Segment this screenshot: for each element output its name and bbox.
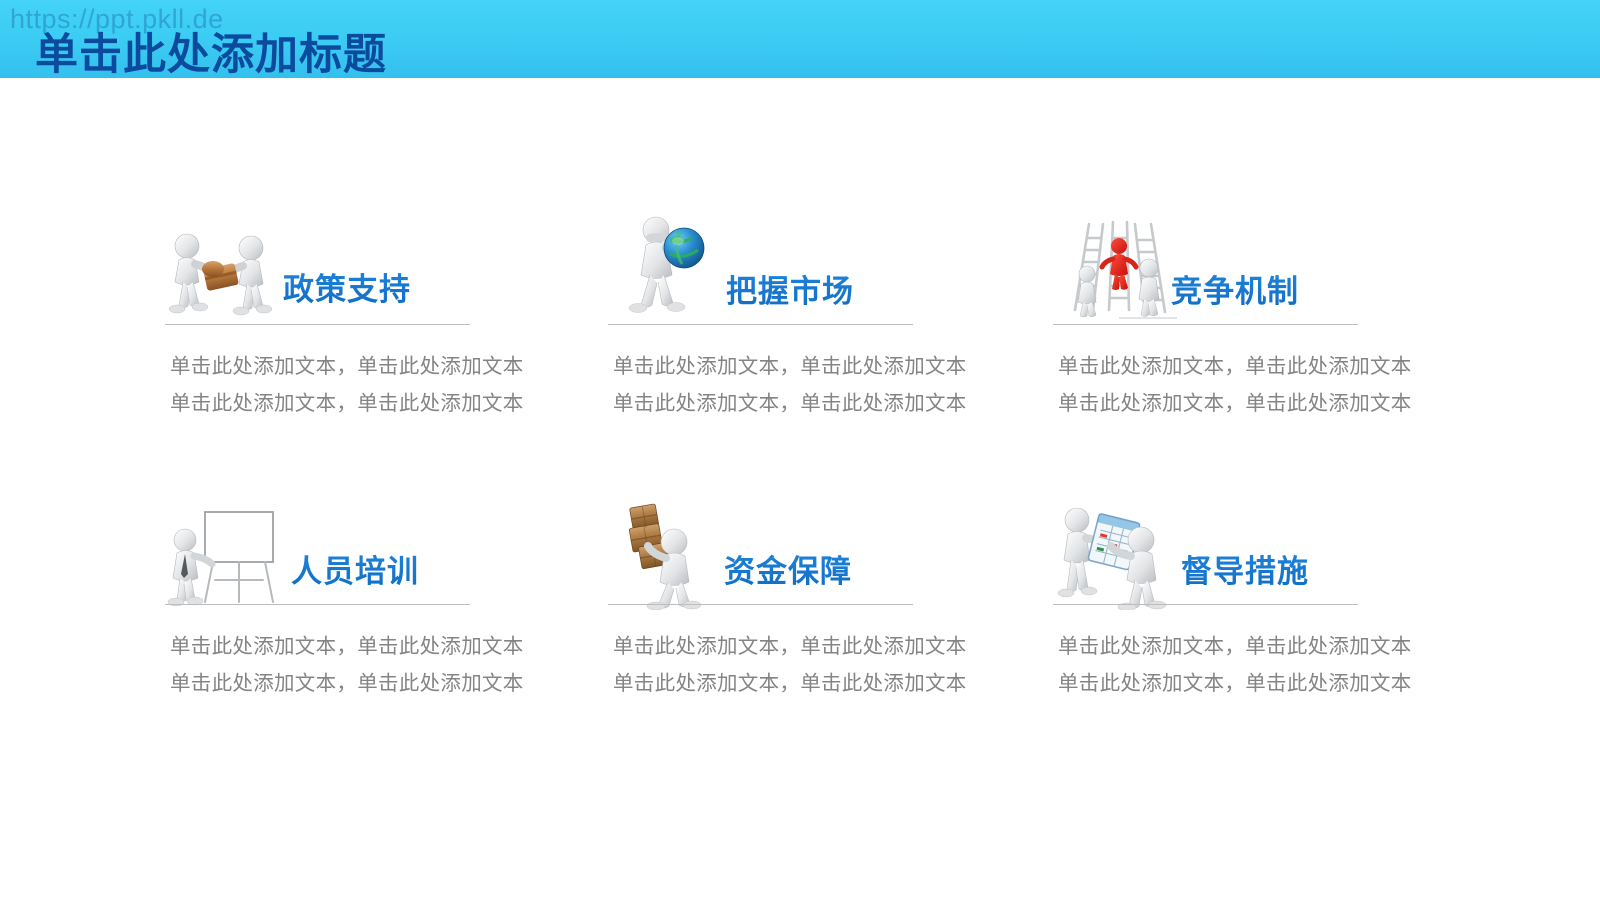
figure-holding-globe-icon — [622, 208, 722, 330]
card-body: 单击此处添加文本，单击此处添加文本 单击此处添加文本，单击此处添加文本 — [170, 348, 490, 422]
card-policy-support[interactable]: 政策支持 单击此处添加文本，单击此处添加文本 单击此处添加文本，单击此处添加文本 — [165, 208, 495, 324]
card-body: 单击此处添加文本，单击此处添加文本 单击此处添加文本，单击此处添加文本 — [613, 348, 933, 422]
card-funding-guarantee[interactable]: 资金保障 单击此处添加文本，单击此处添加文本 单击此处添加文本，单击此处添加文本 — [608, 488, 938, 604]
figures-climbing-ladders-icon — [1059, 214, 1179, 330]
card-title: 督导措施 — [1181, 546, 1309, 591]
card-body-line-1: 单击此处添加文本，单击此处添加文本 — [613, 348, 933, 385]
card-header: 把握市场 — [608, 208, 938, 324]
card-body-line-1: 单击此处添加文本，单击此处添加文本 — [170, 628, 490, 665]
card-body: 单击此处添加文本，单击此处添加文本 单击此处添加文本，单击此处添加文本 — [170, 628, 490, 702]
card-body: 单击此处添加文本，单击此处添加文本 单击此处添加文本，单击此处添加文本 — [613, 628, 933, 702]
card-header: 督导措施 — [1053, 488, 1383, 604]
card-header: 人员培训 — [165, 488, 495, 604]
card-title: 政策支持 — [283, 264, 411, 309]
card-body-line-1: 单击此处添加文本，单击此处添加文本 — [613, 628, 933, 665]
figure-carrying-boxes-icon — [616, 498, 720, 610]
card-body-line-2: 单击此处添加文本，单击此处添加文本 — [170, 385, 490, 422]
card-header: 政策支持 — [165, 208, 495, 324]
card-divider — [165, 604, 470, 605]
figure-at-whiteboard-icon — [165, 506, 285, 610]
card-personnel-training[interactable]: 人员培训 单击此处添加文本，单击此处添加文本 单击此处添加文本，单击此处添加文本 — [165, 488, 495, 604]
card-body-line-2: 单击此处添加文本，单击此处添加文本 — [1058, 385, 1378, 422]
card-body-line-2: 单击此处添加文本，单击此处添加文本 — [170, 665, 490, 702]
card-grid: 政策支持 单击此处添加文本，单击此处添加文本 单击此处添加文本，单击此处添加文本 — [0, 78, 1600, 900]
card-divider — [608, 604, 913, 605]
card-supervision-measures[interactable]: 督导措施 单击此处添加文本，单击此处添加文本 单击此处添加文本，单击此处添加文本 — [1053, 488, 1383, 604]
card-grasp-market[interactable]: 把握市场 单击此处添加文本，单击此处添加文本 单击此处添加文本，单击此处添加文本 — [608, 208, 938, 324]
card-divider — [608, 324, 913, 325]
card-title: 人员培训 — [291, 546, 419, 591]
card-header: 资金保障 — [608, 488, 938, 604]
card-body-line-2: 单击此处添加文本，单击此处添加文本 — [1058, 665, 1378, 702]
card-divider — [1053, 604, 1358, 605]
card-divider — [1053, 324, 1358, 325]
card-body-line-1: 单击此处添加文本，单击此处添加文本 — [1058, 348, 1378, 385]
two-figures-reviewing-chart-icon — [1053, 498, 1175, 610]
card-body-line-2: 单击此处添加文本，单击此处添加文本 — [613, 385, 933, 422]
card-title: 把握市场 — [726, 266, 854, 311]
card-body: 单击此处添加文本，单击此处添加文本 单击此处添加文本，单击此处添加文本 — [1058, 628, 1378, 702]
card-title: 竞争机制 — [1171, 266, 1299, 311]
card-body-line-2: 单击此处添加文本，单击此处添加文本 — [613, 665, 933, 702]
card-title: 资金保障 — [724, 546, 852, 591]
card-divider — [165, 324, 470, 325]
two-figures-carrying-package-icon — [165, 222, 283, 330]
card-header: 竞争机制 — [1053, 208, 1383, 324]
card-body: 单击此处添加文本，单击此处添加文本 单击此处添加文本，单击此处添加文本 — [1058, 348, 1378, 422]
page-title: 单击此处添加标题 — [35, 20, 387, 82]
card-body-line-1: 单击此处添加文本，单击此处添加文本 — [170, 348, 490, 385]
card-body-line-1: 单击此处添加文本，单击此处添加文本 — [1058, 628, 1378, 665]
card-competition-mechanism[interactable]: 竞争机制 单击此处添加文本，单击此处添加文本 单击此处添加文本，单击此处添加文本 — [1053, 208, 1383, 324]
